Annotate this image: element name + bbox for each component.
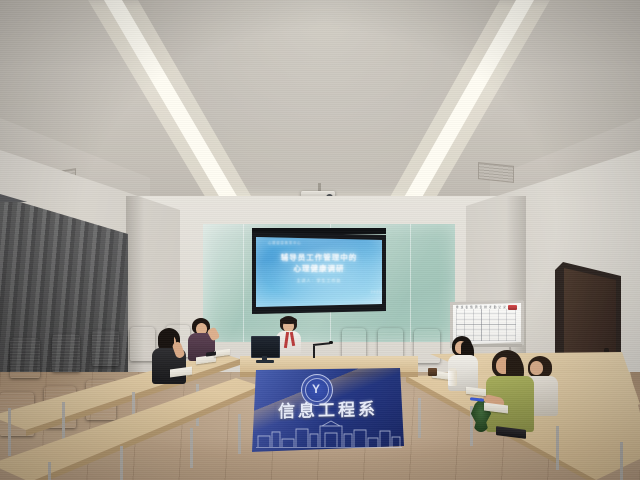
cup-lid: [449, 368, 456, 371]
coffee-cup: [428, 368, 437, 376]
slide-footer: 2023: [256, 290, 392, 294]
desktop-monitor: [251, 336, 280, 358]
banner-department-name: 信息工程系: [252, 394, 404, 423]
microphone-stem: [313, 346, 315, 358]
table-leg: [620, 442, 623, 480]
office-chair[interactable]: [10, 338, 40, 378]
office-chair[interactable]: [52, 334, 80, 372]
slide-title-line1: 辅导员工作管理中的: [256, 252, 382, 263]
table-leg: [556, 426, 559, 470]
slide-title-line2: 心理健康调研: [256, 263, 382, 274]
table-leg: [48, 462, 51, 480]
table-leg: [238, 414, 241, 454]
presenter-hair-top: [280, 317, 297, 324]
table-leg: [190, 428, 193, 468]
slide-subtitle: 主讲人：学生工作处: [256, 278, 382, 284]
banner-skyline-graphic: [256, 420, 402, 448]
slide-corner-note: 心理健康教育中心: [256, 240, 394, 245]
monitor-base: [256, 360, 274, 363]
microphone-head-icon: [329, 341, 333, 344]
office-chair[interactable]: [92, 330, 119, 366]
whiteboard-magnet-icon: [508, 305, 517, 310]
table-leg: [8, 408, 11, 456]
drink-cup: [448, 370, 457, 386]
emblem-mark-icon: Y: [311, 382, 321, 396]
attendee-face: [530, 361, 543, 375]
air-vent-icon: [478, 162, 514, 183]
table-leg: [418, 398, 421, 438]
table-leg: [120, 446, 123, 480]
meeting-room-photo: 心理健康教育中心 辅导员工作管理中的 心理健康调研 主讲人：学生工作处 2023…: [0, 0, 640, 480]
